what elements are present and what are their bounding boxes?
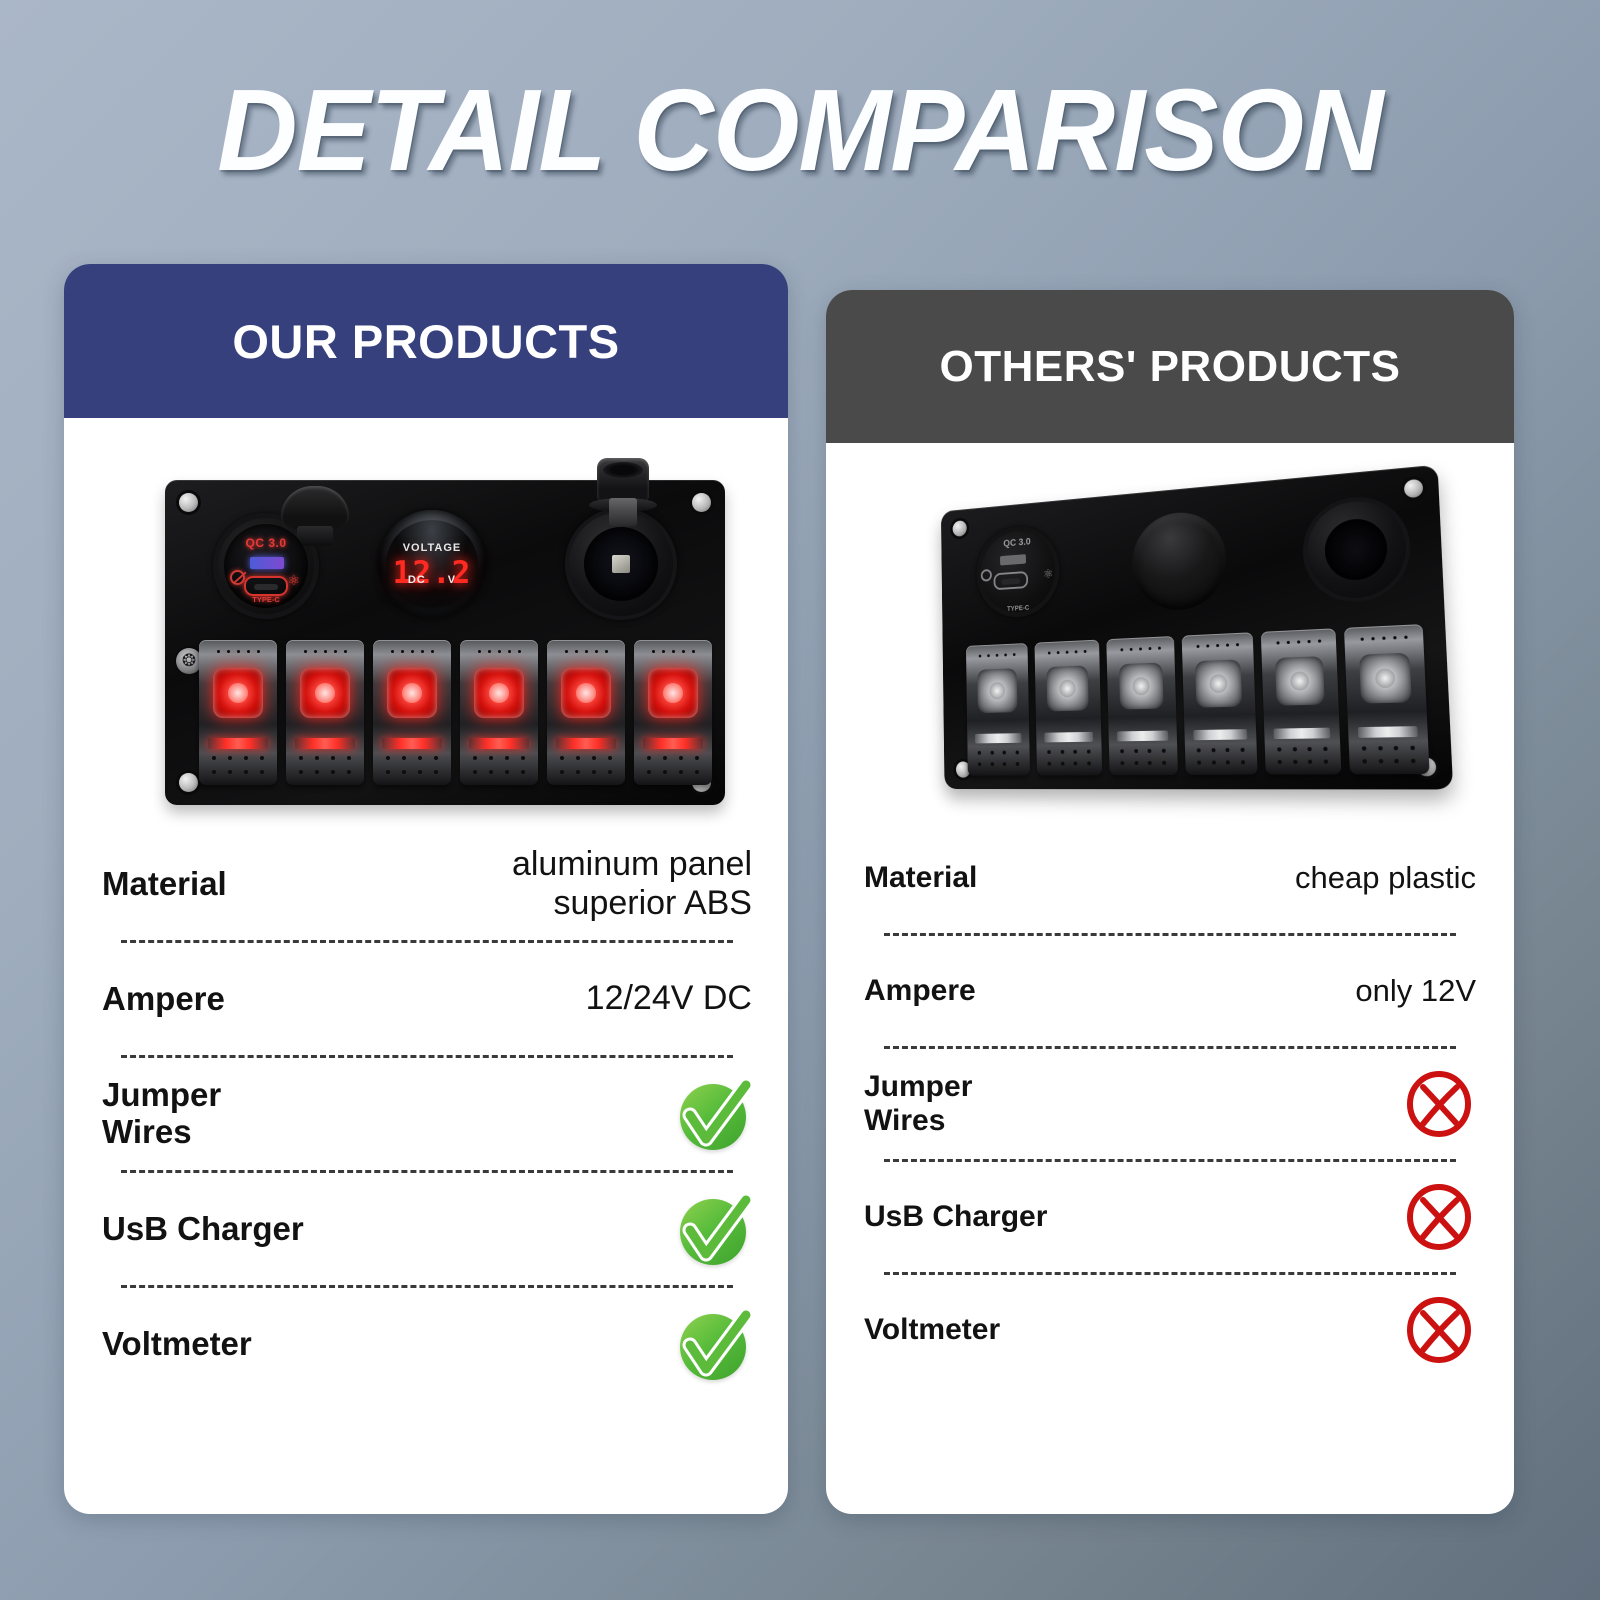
spec-value-material: cheap plastic <box>977 860 1476 896</box>
page-title: DETAIL COMPARISON <box>32 72 1568 188</box>
socket-bore <box>1324 517 1389 582</box>
rocker-switch <box>1261 628 1342 774</box>
socket-dust-cap-icon <box>597 458 649 502</box>
screw-icon <box>179 493 198 512</box>
socket-bore <box>584 527 658 601</box>
spec-label-usb-charger: UsB Charger <box>864 1200 1047 1234</box>
spec-label-voltmeter: Voltmeter <box>102 1326 252 1363</box>
spec-value-material: aluminum panel superior ABS <box>227 845 752 923</box>
rocker-switch <box>199 640 277 785</box>
spec-label-jumper-wires-line1: Jumper <box>102 1077 221 1114</box>
rocker-switch <box>634 640 712 785</box>
check-icon <box>678 1077 752 1151</box>
usb-trident-icon: ⚛ <box>1043 566 1054 582</box>
others-products-card: OTHERS' PRODUCTS QC 3.0 ⚛ TYPE-C <box>826 290 1514 1514</box>
usb-qc-label: QC 3.0 <box>224 536 308 550</box>
voltmeter-gauge: VOLTAGE 12.2 DC V <box>378 510 486 618</box>
switch-panel-front: QC 3.0 ⚛ TYPE-C VOLTAGE 12.2 DC <box>165 480 725 805</box>
rocker-switch <box>1182 632 1258 775</box>
rocker-switch <box>1034 640 1102 776</box>
usb-c-port-icon <box>244 576 288 596</box>
spec-value-material-line2: superior ABS <box>227 884 752 923</box>
our-products-body: QC 3.0 ⚛ TYPE-C VOLTAGE 12.2 DC <box>64 418 788 1514</box>
check-icon <box>678 1192 752 1266</box>
our-product-image: QC 3.0 ⚛ TYPE-C VOLTAGE 12.2 DC <box>82 418 770 828</box>
spec-label-usb-charger: UsB Charger <box>102 1211 304 1248</box>
cigarette-lighter-socket <box>1301 493 1412 605</box>
rocker-switch-row <box>966 624 1430 776</box>
rocker-switch <box>286 640 364 785</box>
blank-plug-no-voltmeter <box>1131 509 1228 613</box>
our-products-header: OUR PRODUCTS <box>64 264 788 418</box>
x-mark-icon <box>1402 1067 1476 1141</box>
spec-row-ampere: Ampere only 12V <box>864 936 1476 1046</box>
spec-label-jumper-wires: Jumper Wires <box>102 1077 221 1151</box>
screw-icon <box>1404 479 1424 499</box>
screw-icon <box>692 493 711 512</box>
check-icon <box>678 1307 752 1381</box>
usb-typec-label: TYPE-C <box>224 596 308 604</box>
spec-label-ampere: Ampere <box>102 981 225 1018</box>
usb-a-port-icon <box>250 557 284 569</box>
screw-icon <box>953 520 967 537</box>
usb-charger-face: QC 3.0 ⚛ TYPE-C <box>224 524 308 608</box>
switch-panel-angled-wrap: QC 3.0 ⚛ TYPE-C <box>925 446 1478 806</box>
others-products-header: OTHERS' PRODUCTS <box>826 290 1514 443</box>
others-products-body: QC 3.0 ⚛ TYPE-C <box>826 443 1514 1514</box>
spec-row-jumper-wires: Jumper Wires <box>102 1058 752 1170</box>
voltmeter-v-label: V <box>448 574 456 586</box>
spec-label-material: Material <box>864 861 977 895</box>
spec-row-ampere: Ampere 12/24V DC <box>102 943 752 1055</box>
switch-panel-angled: QC 3.0 ⚛ TYPE-C <box>941 465 1453 790</box>
no-entry-icon <box>981 569 992 582</box>
spec-label-jumper-wires-line2: Wires <box>864 1104 972 1138</box>
x-mark-icon <box>1402 1293 1476 1367</box>
rocker-switch <box>547 640 625 785</box>
usb-c-port-icon <box>994 571 1029 590</box>
rocker-switch-row <box>199 640 712 785</box>
spec-row-usb-charger: UsB Charger <box>864 1162 1476 1272</box>
spec-value-material-line1: aluminum panel <box>227 845 752 884</box>
spec-value-ampere: 12/24V DC <box>225 979 752 1018</box>
rocker-switch <box>1106 636 1178 775</box>
usb-typec-label: TYPE-C <box>977 603 1060 615</box>
our-products-card: OUR PRODUCTS QC 3.0 ⚛ <box>64 264 788 1514</box>
voltmeter-units: DC V <box>386 574 478 586</box>
socket-hinge-icon <box>609 498 637 526</box>
others-spec-table: Material cheap plastic Ampere only 12V J… <box>844 823 1496 1385</box>
spec-row-material: Material cheap plastic <box>864 823 1476 933</box>
spec-row-jumper-wires: Jumper Wires <box>864 1049 1476 1159</box>
rocker-switch <box>373 640 451 785</box>
cigarette-lighter-socket <box>565 508 677 620</box>
spec-row-voltmeter: Voltmeter <box>102 1288 752 1400</box>
usb-trident-icon: ⚛ <box>287 572 300 589</box>
spec-row-material: Material aluminum panel superior ABS <box>102 828 752 940</box>
spec-label-ampere: Ampere <box>864 974 976 1008</box>
spec-label-jumper-wires: Jumper Wires <box>864 1070 972 1137</box>
rocker-switch <box>1344 624 1430 774</box>
rocker-switch <box>966 643 1030 776</box>
spec-label-jumper-wires-line2: Wires <box>102 1114 221 1151</box>
voltmeter-face: VOLTAGE 12.2 DC V <box>386 520 478 608</box>
our-spec-table: Material aluminum panel superior ABS Amp… <box>82 828 770 1400</box>
usb-dust-cap-icon <box>281 486 349 530</box>
spec-label-material: Material <box>102 866 227 903</box>
usb-a-port-icon <box>1000 554 1026 565</box>
screw-icon <box>179 773 198 792</box>
spec-row-usb-charger: UsB Charger <box>102 1173 752 1285</box>
voltmeter-dc-label: DC <box>408 574 426 586</box>
others-product-image: QC 3.0 ⚛ TYPE-C <box>844 443 1496 823</box>
spec-row-voltmeter: Voltmeter <box>864 1275 1476 1385</box>
x-mark-icon <box>1402 1180 1476 1254</box>
usb-qc-label: QC 3.0 <box>976 534 1059 551</box>
usb-charger-socket: QC 3.0 ⚛ TYPE-C <box>976 523 1061 619</box>
spec-label-voltmeter: Voltmeter <box>864 1313 1000 1347</box>
no-entry-icon <box>230 570 245 585</box>
voltmeter-label: VOLTAGE <box>386 542 478 554</box>
our-products-header-label: OUR PRODUCTS <box>232 314 619 369</box>
spec-label-jumper-wires-line1: Jumper <box>864 1070 972 1104</box>
others-products-header-label: OTHERS' PRODUCTS <box>940 342 1401 392</box>
spec-value-ampere: only 12V <box>976 973 1476 1009</box>
usb-charger-socket: QC 3.0 ⚛ TYPE-C <box>213 513 319 619</box>
rocker-switch <box>460 640 538 785</box>
